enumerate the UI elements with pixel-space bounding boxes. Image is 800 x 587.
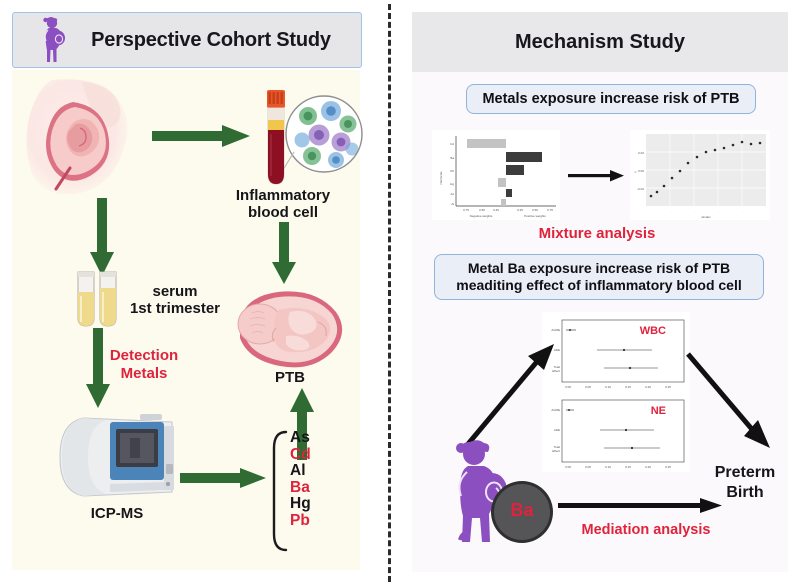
wqs-weights-chart: Cd Ba Pb Hg As Al chemicals 0.75 0.50 0.…	[432, 130, 560, 220]
svg-text:Ba: Ba	[450, 156, 454, 160]
ba-sphere-label: Ba	[490, 500, 554, 520]
svg-text:NE: NE	[651, 405, 666, 417]
svg-text:0.05: 0.05	[585, 385, 591, 389]
mediation-plots-card: WBC ACME ADE Total Effect	[542, 312, 690, 472]
callout-metals-exposure: Metals exposure increase risk of PTB	[466, 84, 756, 114]
svg-text:0.20: 0.20	[645, 465, 651, 469]
inflammatory-blood-cells-magnifier	[284, 94, 364, 174]
arrow-mediators-to-preterm-birth	[684, 348, 774, 454]
fetus-in-uterus-illustration	[230, 282, 350, 374]
metals-list: As Cd Al Ba Hg Pb	[290, 430, 311, 529]
svg-text:Pb: Pb	[450, 169, 454, 173]
left-panel-body: Inflammatory blood cell	[12, 70, 360, 570]
svg-text:0.00: 0.00	[638, 169, 644, 173]
arrow-abdomen-to-serum	[90, 198, 114, 276]
preterm-birth-label-line1: Preterm	[700, 464, 790, 482]
icp-ms-instrument-illustration	[54, 412, 182, 504]
ptb-label: PTB	[250, 370, 330, 387]
arrow-abdomen-to-blood	[152, 125, 250, 147]
metal-item-as: As	[290, 430, 310, 447]
svg-text:0.10: 0.10	[605, 385, 611, 389]
panel-divider	[388, 4, 391, 582]
svg-text:0.00: 0.00	[565, 465, 571, 469]
svg-text:WBC: WBC	[640, 325, 666, 337]
left-panel-title: Perspective Cohort Study	[71, 29, 361, 52]
icpms-label: ICP-MS	[58, 506, 176, 523]
svg-text:As: As	[450, 192, 454, 196]
perspective-cohort-study-panel: Perspective Cohort Study	[8, 6, 380, 581]
serum-tubes-illustration	[74, 270, 122, 328]
svg-text:Negative weights: Negative weights	[470, 214, 493, 218]
arrow-inflammatory-to-ptb	[272, 222, 296, 284]
svg-text:0.25: 0.25	[517, 208, 523, 212]
serum-label-line2: 1st trimester	[112, 301, 238, 318]
svg-text:0.25: 0.25	[665, 465, 671, 469]
callout-ba-mediation-line1: Metal Ba exposure increase risk of PTB	[468, 260, 730, 277]
metal-item-al: Al	[290, 463, 306, 480]
svg-text:Hg: Hg	[450, 182, 454, 186]
svg-text:-0.02: -0.02	[637, 187, 644, 191]
svg-text:0.15: 0.15	[625, 385, 631, 389]
metal-item-hg: Hg	[290, 496, 311, 513]
svg-text:Cd: Cd	[450, 142, 454, 146]
arrow-ba-to-mediators	[462, 340, 558, 450]
svg-text:chemicals: chemicals	[439, 171, 443, 185]
mixture-analysis-caption: Mixture analysis	[472, 226, 722, 243]
arrow-icpms-to-metals	[180, 468, 266, 488]
metals-bracket	[270, 430, 288, 552]
metal-item-pb: Pb	[290, 513, 310, 530]
svg-text:0.75: 0.75	[463, 208, 469, 212]
graphical-abstract: Perspective Cohort Study	[0, 0, 800, 587]
wqs-index-response-chart: 0.02 0.00 -0.02 y . . . . windex	[630, 130, 770, 220]
svg-text:Al: Al	[451, 202, 454, 206]
right-panel-header: Mechanism Study	[412, 12, 788, 72]
metal-item-ba: Ba	[290, 480, 310, 497]
right-panel-body: Metals exposure increase risk of PTB	[412, 72, 788, 572]
inflammatory-blood-cell-label-line2: blood cell	[208, 205, 358, 222]
pregnant-woman-icon	[37, 16, 71, 64]
arrow-mediation-direct	[558, 498, 722, 514]
serum-label-line1: serum	[120, 284, 230, 301]
inflammatory-blood-cell-label-line1: Inflammatory	[208, 188, 358, 205]
preterm-birth-label-line2: Birth	[700, 484, 790, 502]
svg-text:0.50: 0.50	[532, 208, 538, 212]
svg-text:0.20: 0.20	[645, 385, 651, 389]
svg-text:0.15: 0.15	[625, 465, 631, 469]
svg-text:0.50: 0.50	[479, 208, 485, 212]
svg-text:0.10: 0.10	[605, 465, 611, 469]
svg-text:0.25: 0.25	[665, 385, 671, 389]
svg-text:0.75: 0.75	[547, 208, 553, 212]
svg-text:0.05: 0.05	[585, 465, 591, 469]
pregnant-abdomen-illustration	[18, 76, 148, 201]
callout-ba-mediation-line2: meaditing effect of inflammatory blood c…	[456, 277, 741, 294]
metal-item-cd: Cd	[290, 447, 311, 464]
svg-text:0.02: 0.02	[638, 151, 644, 155]
mechanism-study-panel: Mechanism Study Metals exposure increase…	[406, 6, 794, 581]
svg-text:Positive weights: Positive weights	[524, 214, 546, 218]
svg-text:0.25: 0.25	[493, 208, 499, 212]
mediation-analysis-caption: Mediation analysis	[560, 522, 732, 538]
right-panel-title: Mechanism Study	[515, 31, 685, 54]
callout-ba-mediation: Metal Ba exposure increase risk of PTB m…	[434, 254, 764, 300]
svg-text:ACME: ACME	[551, 328, 560, 332]
svg-text:0.00: 0.00	[565, 385, 571, 389]
left-panel-header: Perspective Cohort Study	[12, 12, 362, 68]
arrow-between-mixture-plots	[568, 169, 624, 183]
svg-text:windex: windex	[701, 215, 711, 219]
arrow-serum-to-icpms	[86, 328, 110, 408]
